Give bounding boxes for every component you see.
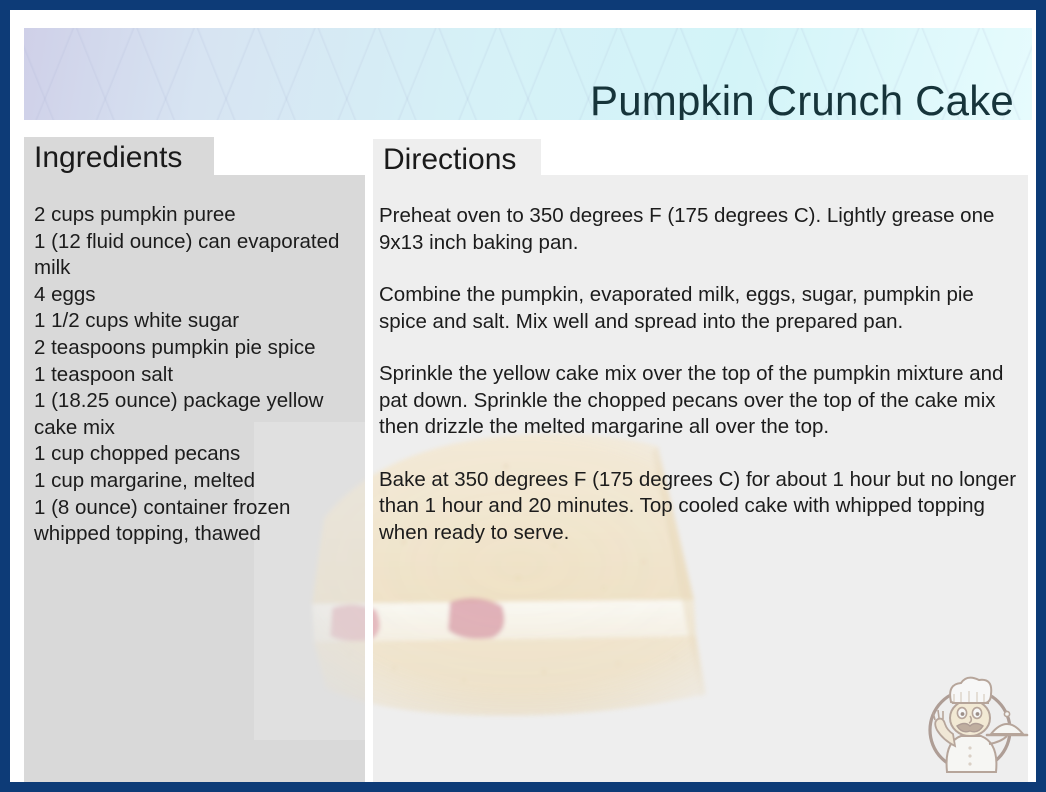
direction-step: Preheat oven to 350 degrees F (175 degre… [379,203,1019,256]
list-item: 1 teaspoon salt [34,362,354,389]
list-item: 1 1/2 cups white sugar [34,308,354,335]
ingredients-heading: Ingredients [34,143,182,173]
header-banner: Pumpkin Crunch Cake [24,28,1032,120]
list-item: 4 eggs [34,282,354,309]
direction-step: Combine the pumpkin, evaporated milk, eg… [379,282,1019,335]
panel-divider-gap [365,175,373,782]
page-title: Pumpkin Crunch Cake [590,77,1014,120]
list-item: 1 (12 fluid ounce) can evaporated milk [34,229,354,282]
list-item: 1 cup margarine, melted [34,468,354,495]
list-item: 1 (18.25 ounce) package yellow cake mix [34,388,354,441]
tab-directions: Directions [373,139,541,180]
directions-list: Preheat oven to 350 degrees F (175 degre… [379,203,1019,546]
list-item: 1 (8 ounce) container frozen whipped top… [34,495,354,548]
list-item: 2 teaspoons pumpkin pie spice [34,335,354,362]
direction-step: Sprinkle the yellow cake mix over the to… [379,361,1019,441]
tab-ingredients: Ingredients [24,137,214,178]
directions-heading: Directions [383,145,516,175]
list-item: 1 cup chopped pecans [34,441,354,468]
ingredients-list: 2 cups pumpkin puree 1 (12 fluid ounce) … [34,202,354,548]
direction-step: Bake at 350 degrees F (175 degrees C) fo… [379,467,1019,547]
list-item: 2 cups pumpkin puree [34,202,354,229]
recipe-card: Pumpkin Crunch Cake [0,0,1046,792]
